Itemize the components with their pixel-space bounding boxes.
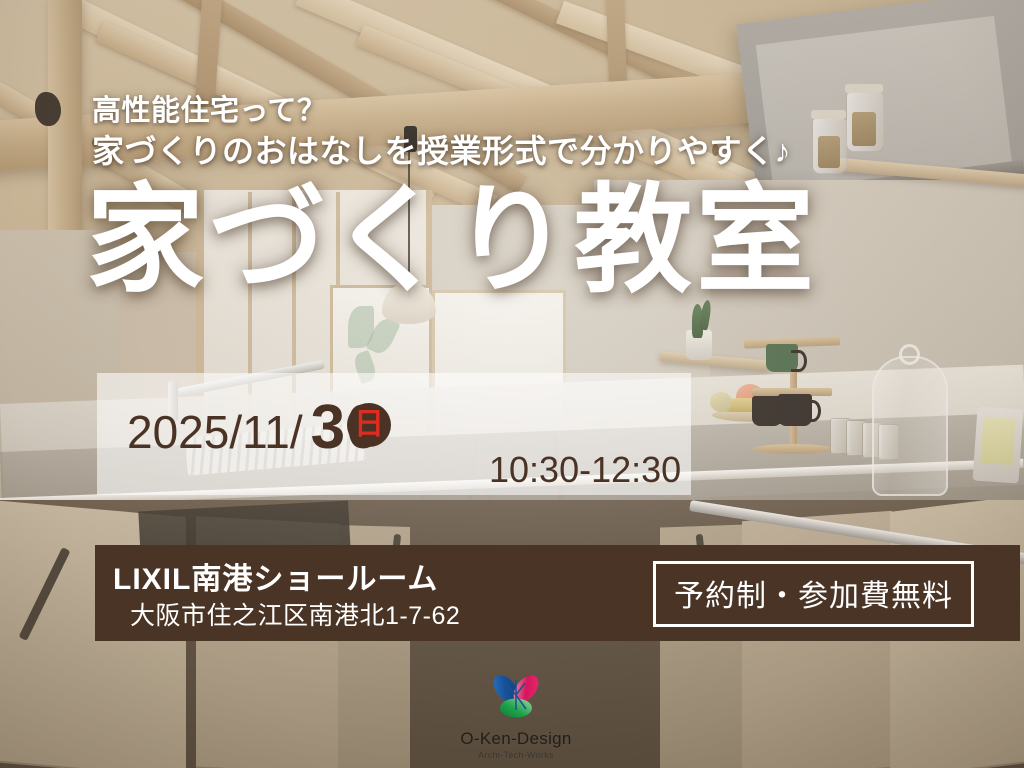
fee-note-badge: 予約制・参加費無料 xyxy=(653,561,974,627)
event-year-month: 2025/11/ xyxy=(127,409,303,455)
jar-content xyxy=(818,136,840,168)
wall-hook xyxy=(35,92,61,126)
venue-bar: LIXIL南港ショールーム 大阪市住之江区南港北1-7-62 予約制・参加費無料 xyxy=(95,545,1020,641)
company-logo: O-Ken-Design Archi-Tech-Works xyxy=(443,668,589,760)
day-of-week-label: 日 xyxy=(354,410,384,440)
event-date-band: 2025/11/ 30 日 10:30-12:30 xyxy=(97,373,691,495)
coffee-cup xyxy=(766,344,798,372)
photo-frame-inner xyxy=(980,417,1015,465)
day-of-week-badge: 日 xyxy=(347,403,391,447)
logo-company-name: O-Ken-Design xyxy=(443,729,589,749)
subtitle-line-2: 家づくりのおはなしを授業形式で分かりやすく♪ xyxy=(92,131,791,171)
glass-cloche xyxy=(872,356,948,496)
venue-address: 大阪市住之江区南港北1-7-62 xyxy=(130,596,460,632)
event-poster: 高性能住宅って？ 家づくりのおはなしを授業形式で分かりやすく♪ 家づくり教室 2… xyxy=(0,0,1024,768)
jar-lid xyxy=(811,110,846,119)
jar-lid xyxy=(845,84,883,93)
subtitle-block: 高性能住宅って？ 家づくりのおはなしを授業形式で分かりやすく♪ xyxy=(92,93,791,171)
logo-tagline: Archi-Tech-Works xyxy=(443,750,589,760)
event-time: 10:30-12:30 xyxy=(489,449,681,491)
venue-name: LIXIL南港ショールーム xyxy=(113,554,438,598)
subtitle-line-1: 高性能住宅って？ xyxy=(92,93,791,129)
cup-stand-base xyxy=(752,444,834,454)
jar-content xyxy=(852,112,876,146)
page-title: 家づくり教室 xyxy=(86,178,818,305)
fruit-apple xyxy=(710,392,732,412)
cloche-knob xyxy=(899,344,920,365)
event-date-row: 2025/11/ 30 xyxy=(127,397,382,459)
logo-mark-icon xyxy=(485,668,547,728)
coffee-cup xyxy=(752,396,782,426)
